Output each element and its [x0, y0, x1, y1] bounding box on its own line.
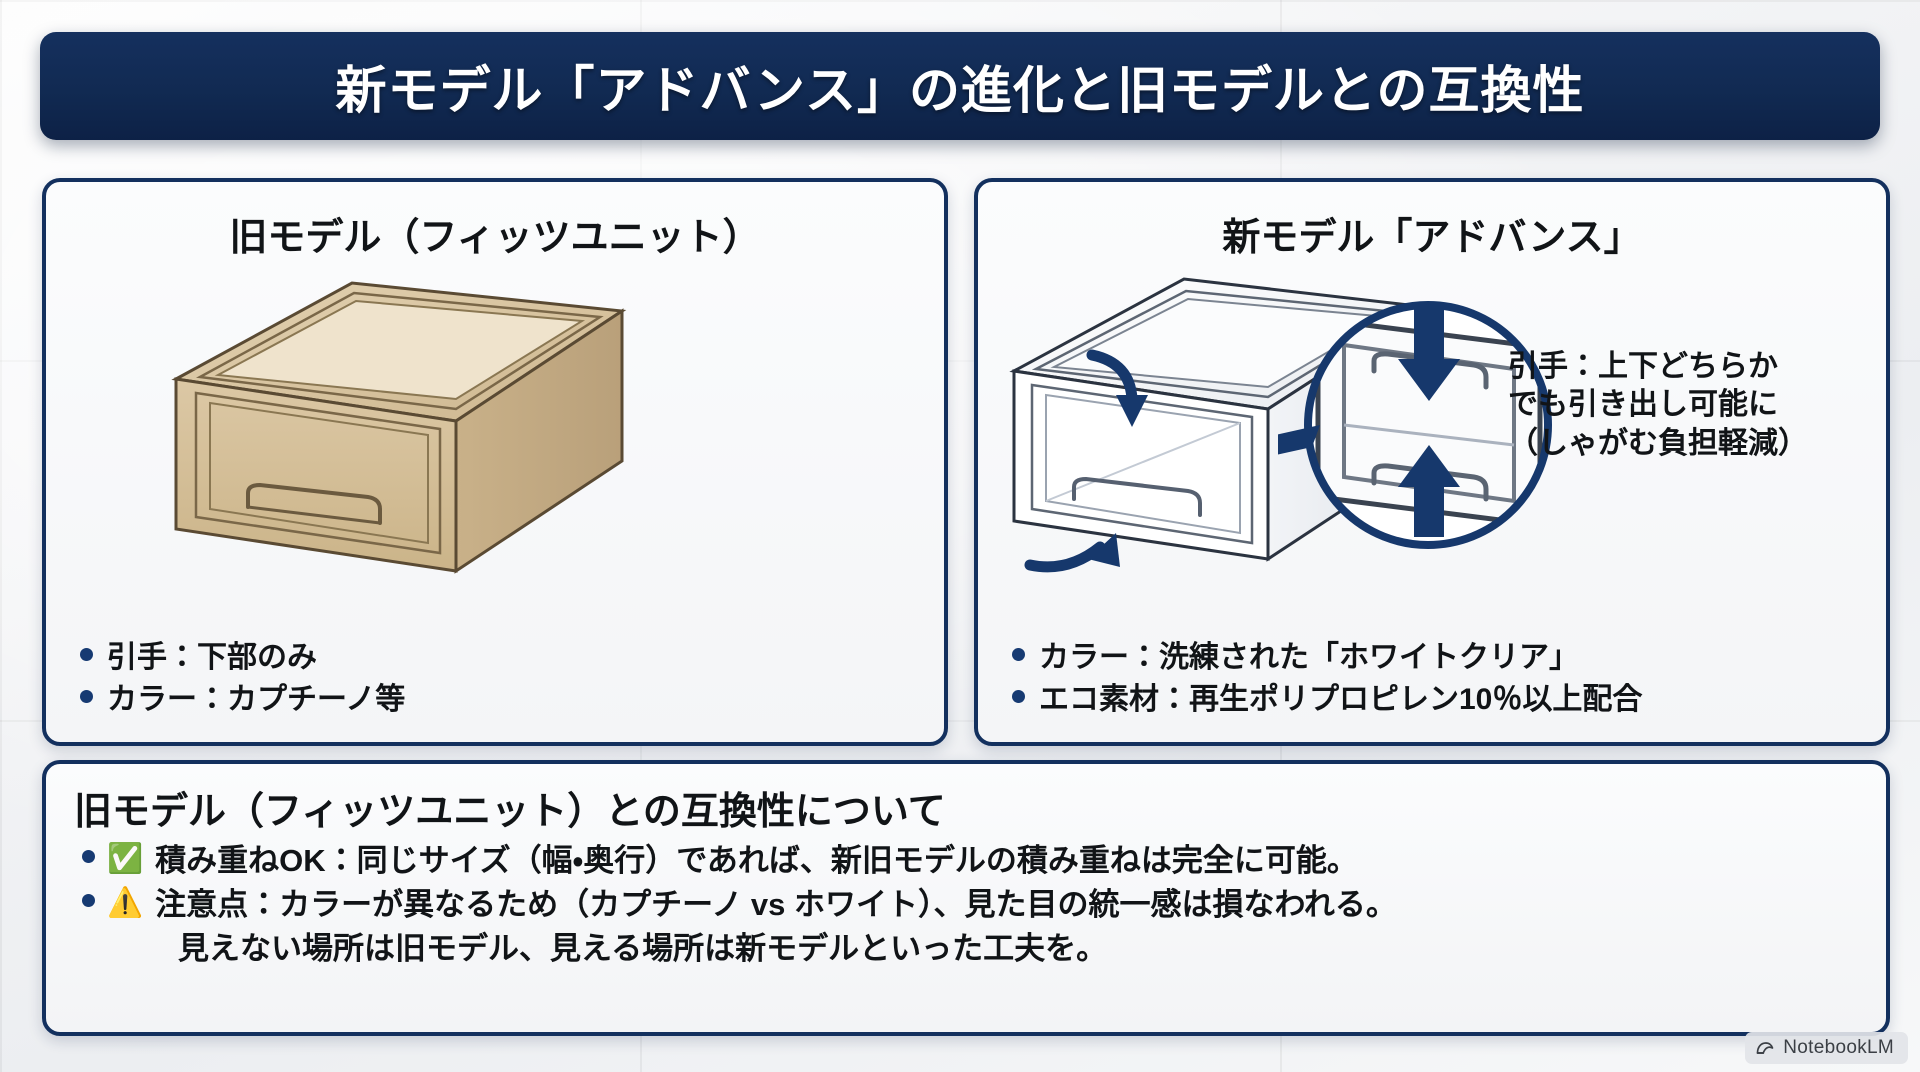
compatibility-panel-title: 旧モデル（フィッツユニット）との互換性について: [74, 780, 1886, 835]
old-model-bullet-1: 引手：下部のみ: [107, 637, 317, 678]
callout-line-3: （しゃがむ負担軽減）: [1508, 425, 1868, 463]
bullet-dot-icon: [1012, 648, 1025, 661]
list-item: カラー：洗練された「ホワイトクリア」: [1012, 637, 1852, 678]
watermark-label: NotebookLM: [1783, 1037, 1894, 1059]
header-bar: 新モデル「アドバンス」の進化と旧モデルとの互換性: [40, 32, 1880, 140]
callout-line-2: でも引き出し可能に: [1508, 386, 1868, 424]
handle-callout-text: 引手：上下どちらか でも引き出し可能に （しゃがむ負担軽減）: [1508, 348, 1868, 463]
bullet-dot-icon: [80, 648, 93, 661]
list-item: 引手：下部のみ: [80, 637, 910, 678]
list-item: カラー：カプチーノ等: [80, 679, 910, 720]
compatibility-panel: 旧モデル（フィッツユニット）との互換性について ✅ 積み重ねOK：同じサイズ（幅…: [42, 760, 1890, 1036]
old-model-illustration: [46, 261, 944, 591]
bullet-dot-icon: [82, 850, 95, 863]
bullet-dot-icon: [80, 690, 93, 703]
warning-emoji: ⚠️: [107, 883, 143, 924]
new-model-bullet-1: カラー：洗練された「ホワイトクリア」: [1039, 637, 1579, 678]
arrow-bottom: [1030, 533, 1120, 567]
bullet-dot-icon: [82, 894, 95, 907]
notebooklm-watermark: NotebookLM: [1745, 1032, 1908, 1064]
list-item: エコ素材：再生ポリプロピレン10％以上配合: [1012, 679, 1852, 720]
compatibility-row-1-text: 積み重ねOK：同じサイズ（幅・奥行）であれば、新旧モデルの積み重ねは完全に可能。: [155, 839, 1358, 883]
check-mark-emoji: ✅: [107, 839, 143, 880]
old-model-bullet-list: 引手：下部のみ カラー：カプチーノ等: [46, 637, 944, 720]
notebooklm-logo-icon: [1755, 1038, 1775, 1058]
new-model-bullet-2: エコ素材：再生ポリプロピレン10％以上配合: [1039, 679, 1642, 720]
callout-line-1: 引手：上下どちらか: [1508, 348, 1868, 386]
page-title: 新モデル「アドバンス」の進化と旧モデルとの互換性: [335, 49, 1584, 123]
card-new-model-title: 新モデル「アドバンス」: [978, 206, 1886, 261]
slide-stage: 新モデル「アドバンス」の進化と旧モデルとの互換性 旧モデル（フィッツユニット）: [0, 0, 1920, 1072]
old-model-bullet-2: カラー：カプチーノ等: [107, 679, 405, 720]
compatibility-row-2-text: 注意点：カラーが異なるため（カプチーノ vs ホワイト）、見た目の統一感は損なわ…: [155, 883, 1397, 927]
list-item: ✅ 積み重ねOK：同じサイズ（幅・奥行）であれば、新旧モデルの積み重ねは完全に可…: [82, 839, 1886, 883]
compatibility-row-2-continuation: 見えない場所は旧モデル、見える場所は新モデルといった工夫を。: [178, 927, 1886, 971]
bullet-dot-icon: [1012, 690, 1025, 703]
card-old-model: 旧モデル（フィッツユニット）: [42, 178, 948, 746]
new-model-bullet-list: カラー：洗練された「ホワイトクリア」 エコ素材：再生ポリプロピレン10％以上配合: [978, 637, 1886, 720]
list-item: ⚠️ 注意点：カラーが異なるため（カプチーノ vs ホワイト）、見た目の統一感は…: [82, 883, 1886, 927]
card-old-model-title: 旧モデル（フィッツユニット）: [46, 206, 944, 261]
compatibility-list: ✅ 積み重ねOK：同じサイズ（幅・奥行）であれば、新旧モデルの積み重ねは完全に可…: [82, 839, 1886, 971]
